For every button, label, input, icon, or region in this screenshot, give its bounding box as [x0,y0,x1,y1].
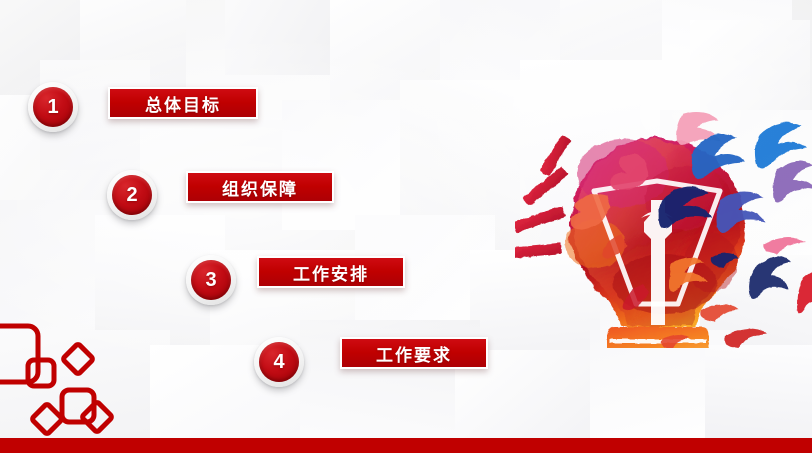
step-label-text-3: 工作安排 [293,260,369,285]
step-number-circle-4[interactable]: 4 [254,337,304,387]
light-rays [515,135,571,259]
bg-shape [282,100,422,230]
step-label-text-2: 组织保障 [222,175,298,200]
step-label-box-2[interactable]: 组织保障 [186,171,334,203]
step-number-1: 1 [47,97,58,117]
step-label-text-1: 总体目标 [145,91,221,116]
step-number-2: 2 [126,185,137,205]
bg-shape [186,0,356,150]
deco-diamond-top [62,343,93,374]
step-number-4: 4 [273,352,284,372]
lightbulb-artwork [515,48,812,348]
bulb-base [607,327,709,348]
step-label-text-4: 工作要求 [376,341,452,366]
deco-diamond-bottom [31,403,62,434]
step-label-box-4[interactable]: 工作要求 [340,337,488,369]
decorative-shapes [0,298,180,438]
step-number-circle-3[interactable]: 3 [186,255,236,305]
bottom-accent-bar [0,438,812,453]
bg-shape [330,0,480,120]
step-label-box-3[interactable]: 工作安排 [257,256,405,288]
bg-shape [225,0,335,75]
step-label-box-1[interactable]: 总体目标 [108,87,258,119]
step-number-circle-2[interactable]: 2 [107,170,157,220]
deco-diamond-right [81,401,112,432]
bg-shape [705,345,812,453]
step-number-3: 3 [205,270,216,290]
bg-shape [590,330,730,453]
slide-canvas: 1 总体目标 2 组织保障 3 工作安排 4 工作要求 [0,0,812,453]
step-number-circle-1[interactable]: 1 [28,82,78,132]
deco-rounded-square-large [0,326,38,382]
